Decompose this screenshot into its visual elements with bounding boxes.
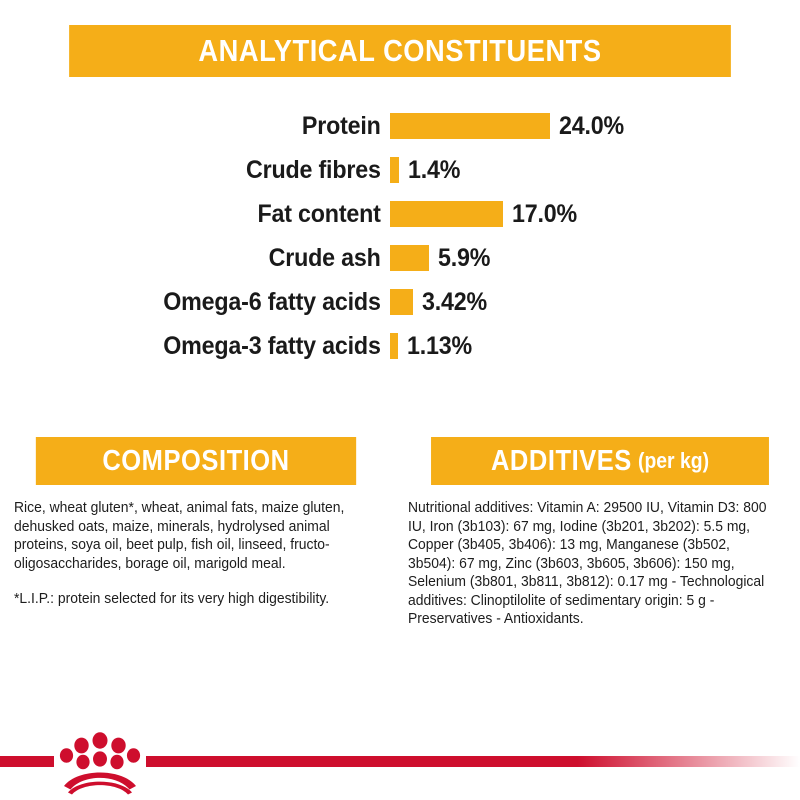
footer-rule-right (146, 756, 800, 767)
chart-row: Omega-3 fatty acids 1.13% (0, 324, 800, 368)
bar-label: Crude ash (27, 244, 390, 273)
analytical-constituents-header: ANALYTICAL CONSTITUENTS (69, 25, 731, 77)
additives-heading-label: ADDITIVES (491, 445, 632, 478)
bar-value: 17.0% (512, 200, 577, 229)
bar-area: 1.13% (390, 332, 800, 361)
footer (0, 710, 800, 800)
analytical-constituents-chart: Protein 24.0% Crude fibres 1.4% Fat cont… (0, 104, 800, 368)
composition-body: Rice, wheat gluten*, wheat, animal fats,… (0, 499, 400, 609)
bar-label: Crude fibres (27, 156, 390, 185)
nutrition-info-page: ANALYTICAL CONSTITUENTS Protein 24.0% Cr… (0, 0, 800, 800)
bar-fill (390, 201, 503, 227)
bar-fill (390, 245, 429, 271)
composition-text: Rice, wheat gluten*, wheat, animal fats,… (14, 499, 363, 573)
royal-canin-crown-icon (54, 726, 146, 796)
bar-area: 3.42% (390, 288, 800, 317)
chart-row: Crude fibres 1.4% (0, 148, 800, 192)
bar-area: 17.0% (390, 200, 800, 229)
bar-area: 5.9% (390, 244, 800, 273)
bar-fill (390, 157, 399, 183)
page-title: ANALYTICAL CONSTITUENTS (198, 33, 601, 69)
bar-label: Omega-3 fatty acids (27, 332, 390, 361)
composition-heading-label: COMPOSITION (102, 445, 289, 478)
bar-value: 5.9% (438, 244, 490, 273)
bar-value: 1.4% (408, 156, 460, 185)
bar-label: Protein (27, 112, 390, 141)
additives-text: Nutritional additives: Vitamin A: 29500 … (408, 499, 777, 629)
chart-row: Protein 24.0% (0, 104, 800, 148)
bar-value: 24.0% (559, 112, 624, 141)
bar-area: 1.4% (390, 156, 800, 185)
footer-rule-left (0, 756, 54, 767)
bar-fill (390, 113, 550, 139)
bar-value: 1.13% (407, 332, 472, 361)
bar-fill (390, 333, 398, 359)
composition-header: COMPOSITION (36, 437, 356, 485)
composition-footnote: *L.I.P.: protein selected for its very h… (14, 590, 363, 609)
bar-fill (390, 289, 413, 315)
bar-area: 24.0% (390, 112, 800, 141)
additives-body: Nutritional additives: Vitamin A: 29500 … (400, 499, 800, 629)
chart-row: Fat content 17.0% (0, 192, 800, 236)
additives-heading-suffix: (per kg) (638, 448, 709, 474)
bar-value: 3.42% (422, 288, 487, 317)
chart-row: Omega-6 fatty acids 3.42% (0, 280, 800, 324)
additives-header: ADDITIVES (per kg) (431, 437, 769, 485)
info-panels: COMPOSITION Rice, wheat gluten*, wheat, … (0, 437, 800, 629)
bar-label: Omega-6 fatty acids (27, 288, 390, 317)
composition-panel: COMPOSITION Rice, wheat gluten*, wheat, … (0, 437, 400, 629)
chart-row: Crude ash 5.9% (0, 236, 800, 280)
additives-panel: ADDITIVES (per kg) Nutritional additives… (400, 437, 800, 629)
bar-label: Fat content (27, 200, 390, 229)
